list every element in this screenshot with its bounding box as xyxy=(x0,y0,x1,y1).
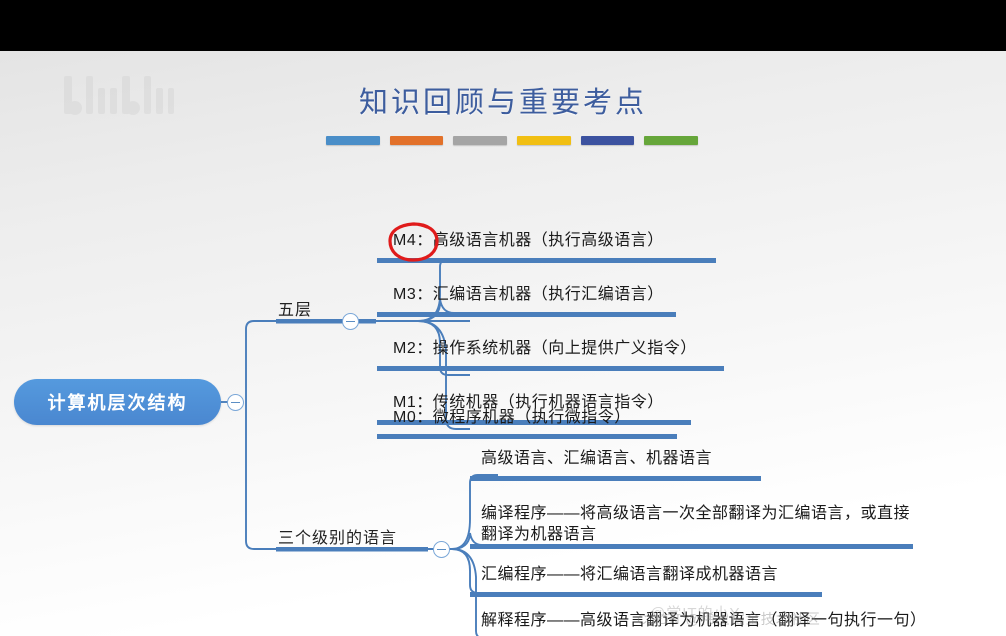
sanjibie-collapse-toggle[interactable] xyxy=(433,541,450,558)
underline-lang-list xyxy=(470,476,761,481)
leaf-assembler[interactable]: 汇编程序——将汇编语言翻译成机器语言 xyxy=(481,564,778,585)
underline-m0 xyxy=(377,434,677,439)
mindmap: 计算机层次结构 五层 M4：高级语言机器（执行高级语言） M3：汇编语言机器（执… xyxy=(0,51,1006,636)
mindmap-root-node[interactable]: 计算机层次结构 xyxy=(14,379,221,425)
leaf-m2[interactable]: M2：操作系统机器（向上提供广义指令） xyxy=(393,338,697,359)
letterbox-bar-top xyxy=(0,0,1006,51)
leaf-three-languages[interactable]: 高级语言、汇编语言、机器语言 xyxy=(481,448,712,469)
wuceng-collapse-toggle[interactable] xyxy=(342,313,359,330)
leaf-m3[interactable]: M3：汇编语言机器（执行汇编语言） xyxy=(393,284,664,305)
branch-label-wuceng[interactable]: 五层 xyxy=(278,296,312,320)
leaf-compiler[interactable]: 编译程序——将高级语言一次全部翻译为汇编语言，或直接翻译为机器语言 xyxy=(481,503,921,545)
leaf-m0[interactable]: M0：微程序机器（执行微指令） xyxy=(393,407,631,428)
underline-assembler xyxy=(470,592,822,597)
root-collapse-toggle[interactable] xyxy=(227,394,244,411)
leaf-m4[interactable]: M4：高级语言机器（执行高级语言） xyxy=(393,230,664,251)
video-player-screen: 知识回顾与重要考点 xyxy=(0,0,1006,636)
branch-label-sanjibie[interactable]: 三个级别的语言 xyxy=(278,524,397,548)
slide-canvas: 知识回顾与重要考点 xyxy=(0,51,1006,636)
author-watermark: @学IT的小Y xyxy=(650,602,741,623)
root-node-label: 计算机层次结构 xyxy=(48,389,188,415)
